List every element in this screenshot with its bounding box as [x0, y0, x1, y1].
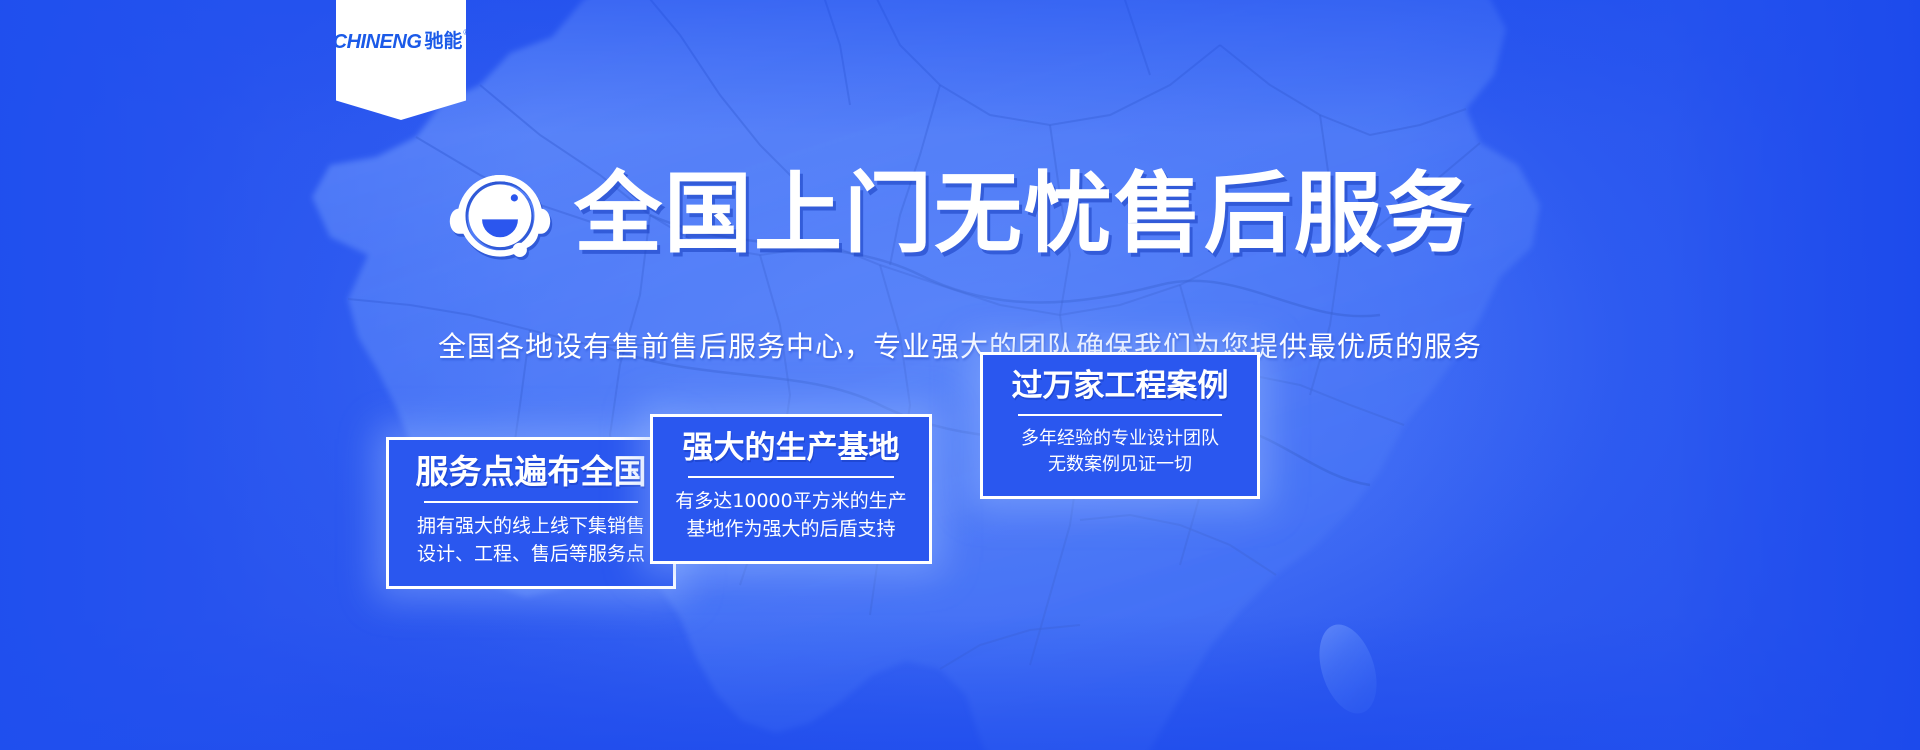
service-banner: CHINENG 驰能 ® 全国上门无忧售后服务 全国各地设有售前售后服务中心，专… — [0, 0, 1920, 750]
feature-card-divider — [424, 501, 637, 503]
brand-logo-cjk: 驰能 — [424, 32, 462, 51]
feature-card-divider — [1018, 414, 1223, 416]
feature-card-desc-line1: 多年经验的专业设计团队 — [1001, 426, 1239, 452]
feature-card-desc-line2: 基地作为强大的后盾支持 — [671, 516, 911, 544]
feature-card-title: 服务点遍布全国 — [407, 454, 655, 490]
brand-logo-lockup: CHINENG 驰能 ® — [333, 32, 470, 52]
feature-card-service-points[interactable]: 服务点遍布全国 拥有强大的线上线下集销售 设计、工程、售后等服务点 — [386, 437, 676, 589]
feature-card-desc-line1: 有多达10000平方米的生产 — [671, 488, 911, 516]
brand-logo-latin: CHINENG — [333, 32, 422, 52]
page-subtitle: 全国各地设有售前售后服务中心，专业强大的团队确保我们为您提供最优质的服务 — [0, 330, 1920, 364]
feature-card-divider — [688, 476, 894, 478]
feature-card-desc-line2: 无数案例见证一切 — [1001, 452, 1239, 478]
page-title: 全国上门无忧售后服务 — [574, 170, 1474, 258]
feature-card-desc-line2: 设计、工程、售后等服务点 — [407, 541, 655, 569]
feature-card-production-base[interactable]: 强大的生产基地 有多达10000平方米的生产 基地作为强大的后盾支持 — [650, 414, 932, 564]
brand-logo-flag: CHINENG 驰能 ® — [336, 0, 466, 120]
feature-card-project-cases[interactable]: 过万家工程案例 多年经验的专业设计团队 无数案例见证一切 — [980, 352, 1260, 499]
feature-card-title: 过万家工程案例 — [1001, 369, 1239, 403]
feature-card-title: 强大的生产基地 — [671, 431, 911, 465]
headline-row: 全国上门无忧售后服务 — [0, 162, 1920, 266]
china-map-background — [0, 0, 1920, 750]
feature-card-desc-line1: 拥有强大的线上线下集销售 — [407, 513, 655, 541]
customer-service-smiley-icon — [446, 162, 554, 266]
